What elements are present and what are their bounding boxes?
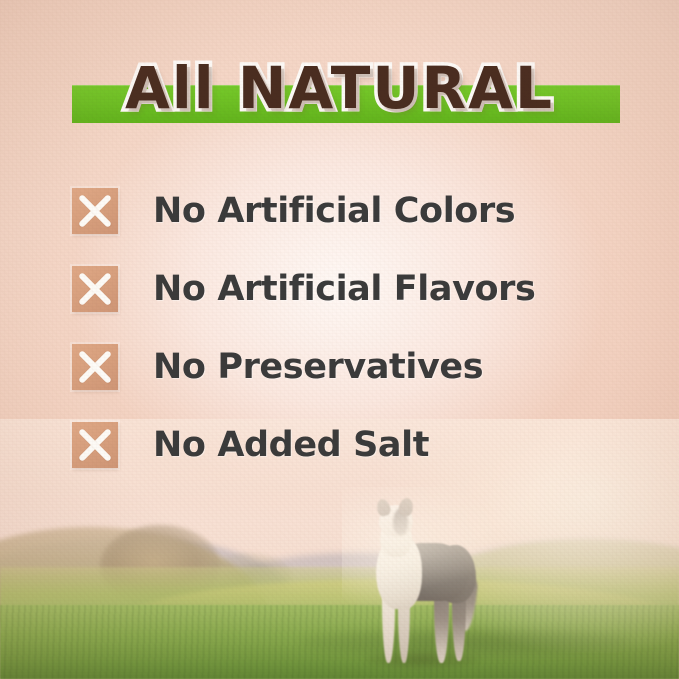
benefit-item-no-added-salt: No Added Salt bbox=[72, 406, 632, 484]
benefit-item-no-artificial-colors: No Artificial Colors bbox=[72, 172, 632, 250]
headline-block: All NATURAL bbox=[0, 52, 679, 130]
x-mark-icon bbox=[72, 266, 118, 312]
border-collie-dog bbox=[352, 499, 482, 667]
all-natural-poster: All NATURAL No Artificial Colors No Arti… bbox=[0, 0, 679, 679]
x-mark-icon bbox=[72, 188, 118, 234]
x-mark-icon bbox=[72, 344, 118, 390]
benefits-list: No Artificial Colors No Artificial Flavo… bbox=[72, 172, 632, 484]
x-mark-icon bbox=[72, 422, 118, 468]
benefit-item-no-artificial-flavors: No Artificial Flavors bbox=[72, 250, 632, 328]
dog-ear-right bbox=[397, 497, 414, 518]
benefit-label: No Added Salt bbox=[153, 425, 429, 465]
benefit-label: No Artificial Flavors bbox=[153, 269, 535, 309]
benefit-label: No Preservatives bbox=[153, 347, 483, 387]
benefit-item-no-preservatives: No Preservatives bbox=[72, 328, 632, 406]
page-title: All NATURAL bbox=[0, 52, 679, 124]
benefit-label: No Artificial Colors bbox=[153, 191, 515, 231]
